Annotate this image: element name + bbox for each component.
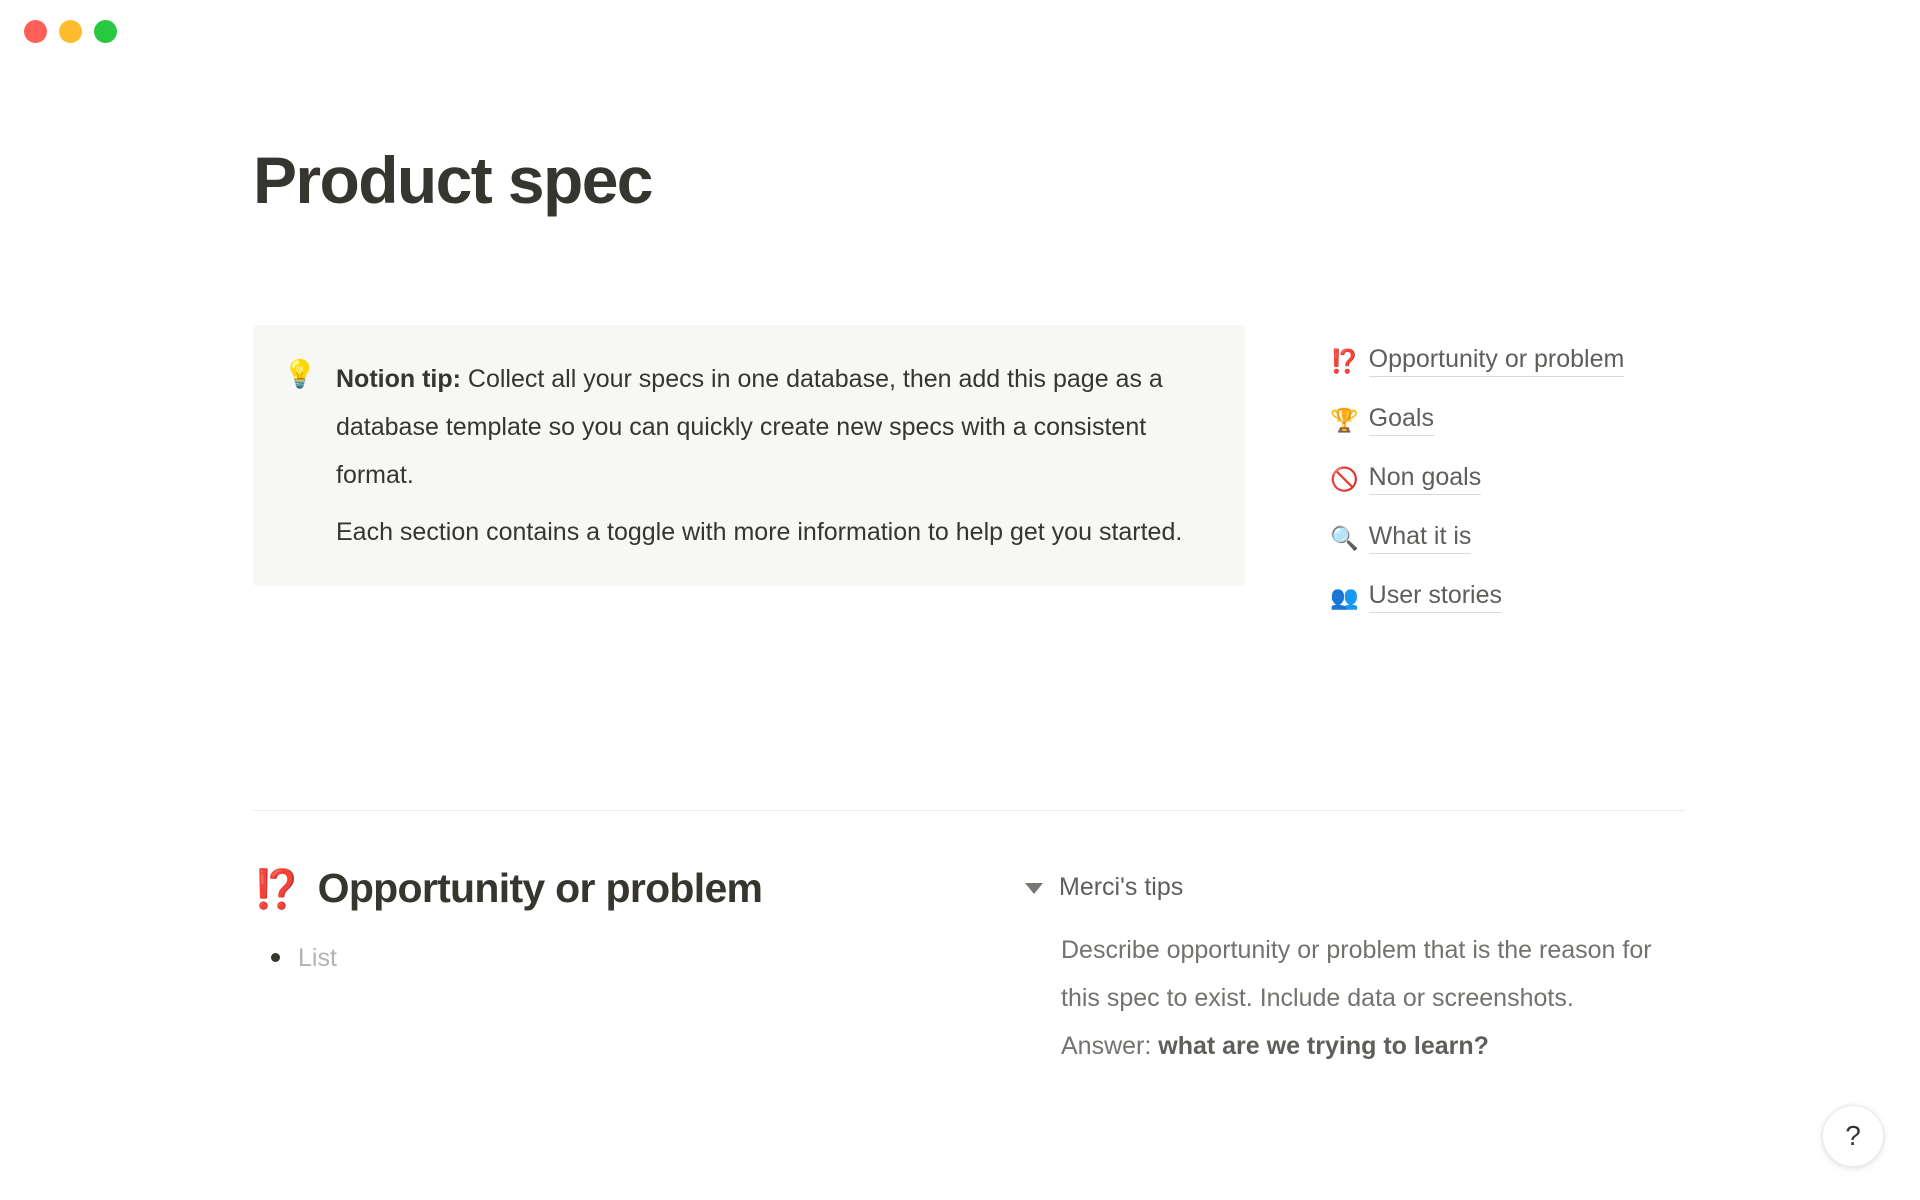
section-opportunity-or-problem: ⁉️ Opportunity or problem List Merci's t… [253, 862, 1693, 1070]
toc-item-what-it-is[interactable]: 🔍 What it is [1330, 521, 1471, 554]
trophy-icon: 🏆 [1330, 406, 1359, 434]
help-button[interactable]: ? [1822, 1105, 1884, 1167]
toc-item-label: Non goals [1369, 462, 1482, 495]
window-minimize-button[interactable] [59, 20, 82, 43]
prohibited-icon: 🚫 [1330, 465, 1359, 493]
light-bulb-icon: 💡 [283, 353, 315, 395]
callout-bold-prefix: Notion tip: [336, 365, 461, 393]
busts-in-silhouette-icon: 👥 [1330, 583, 1359, 611]
callout-paragraph-1: Notion tip: Collect all your specs in on… [336, 355, 1215, 499]
toc-item-label: What it is [1369, 521, 1472, 554]
notion-tip-callout[interactable]: 💡 Notion tip: Collect all your specs in … [253, 325, 1245, 586]
bullet-dot-icon [271, 953, 280, 962]
list-item[interactable]: List [271, 940, 993, 976]
toggle-content: Describe opportunity or problem that is … [1061, 926, 1661, 1070]
toc-item-user-stories[interactable]: 👥 User stories [1330, 580, 1502, 613]
bulleted-list: List [253, 940, 993, 976]
toc-item-non-goals[interactable]: 🚫 Non goals [1330, 462, 1481, 495]
intro-row: 💡 Notion tip: Collect all your specs in … [253, 325, 1683, 613]
toc-item-goals[interactable]: 🏆 Goals [1330, 403, 1434, 436]
section-divider [253, 810, 1685, 811]
page-title[interactable]: Product spec [253, 144, 652, 217]
window-close-button[interactable] [24, 20, 47, 43]
chevron-down-icon[interactable] [1025, 883, 1043, 894]
section-side-column: Merci's tips Describe opportunity or pro… [1025, 862, 1665, 1070]
section-heading[interactable]: ⁉️ Opportunity or problem [253, 862, 993, 916]
list-item-placeholder: List [298, 940, 337, 976]
page-canvas: Product spec 💡 Notion tip: Collect all y… [0, 62, 1920, 1200]
toc-item-label: Goals [1369, 403, 1434, 436]
toc-item-label: Opportunity or problem [1369, 344, 1625, 377]
section-main-column: ⁉️ Opportunity or problem List [253, 862, 993, 976]
magnifying-glass-icon: 🔍 [1330, 524, 1359, 552]
window-titlebar [0, 0, 1920, 62]
toc-item-label: User stories [1369, 580, 1502, 613]
exclamation-question-icon: ⁉️ [253, 864, 300, 916]
window-zoom-button[interactable] [94, 20, 117, 43]
toggle-title: Merci's tips [1059, 870, 1183, 904]
toc-item-opportunity-or-problem[interactable]: ⁉️ Opportunity or problem [1330, 344, 1624, 377]
exclamation-question-icon: ⁉️ [1330, 347, 1359, 375]
callout-paragraph-1-text: Collect all your specs in one database, … [336, 365, 1163, 489]
table-of-contents: ⁉️ Opportunity or problem 🏆 Goals 🚫 Non … [1330, 325, 1624, 613]
merci-tips-toggle[interactable]: Merci's tips [1025, 870, 1665, 904]
toggle-content-emphasis: what are we trying to learn? [1158, 1032, 1489, 1060]
callout-text-body: Notion tip: Collect all your specs in on… [336, 353, 1215, 556]
callout-paragraph-2: Each section contains a toggle with more… [336, 508, 1215, 556]
section-heading-label: Opportunity or problem [318, 862, 763, 914]
